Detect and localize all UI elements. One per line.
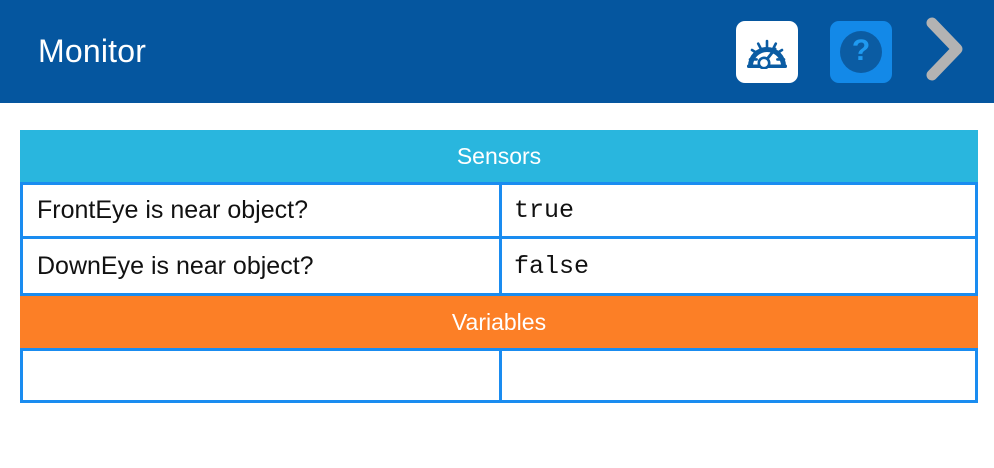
- variable-value-cell: [502, 351, 975, 400]
- gauge-icon: [745, 35, 789, 69]
- section-header-sensors: Sensors: [20, 130, 978, 182]
- help-button-label: ?: [852, 36, 870, 66]
- gauge-button[interactable]: [736, 21, 798, 83]
- section-header-variables: Variables: [20, 296, 978, 348]
- table-row: [20, 348, 978, 403]
- table-row: FrontEye is near object? true: [20, 182, 978, 239]
- help-button[interactable]: ?: [830, 21, 892, 83]
- next-button[interactable]: [914, 16, 976, 88]
- sensor-value-cell: true: [502, 185, 975, 236]
- table-row: DownEye is near object? false: [20, 239, 978, 296]
- monitor-table: Sensors FrontEye is near object? true Do…: [20, 130, 978, 403]
- variable-name-cell: [23, 351, 502, 400]
- sensor-name-cell: DownEye is near object?: [23, 239, 502, 293]
- chevron-right-icon: [922, 13, 968, 90]
- question-mark-icon: ?: [840, 31, 882, 73]
- sensor-name-cell: FrontEye is near object?: [23, 185, 502, 236]
- app-bar: Monitor: [0, 0, 994, 103]
- sensor-value-cell: false: [502, 239, 975, 293]
- page-title: Monitor: [38, 33, 146, 70]
- appbar-actions: ?: [736, 16, 976, 88]
